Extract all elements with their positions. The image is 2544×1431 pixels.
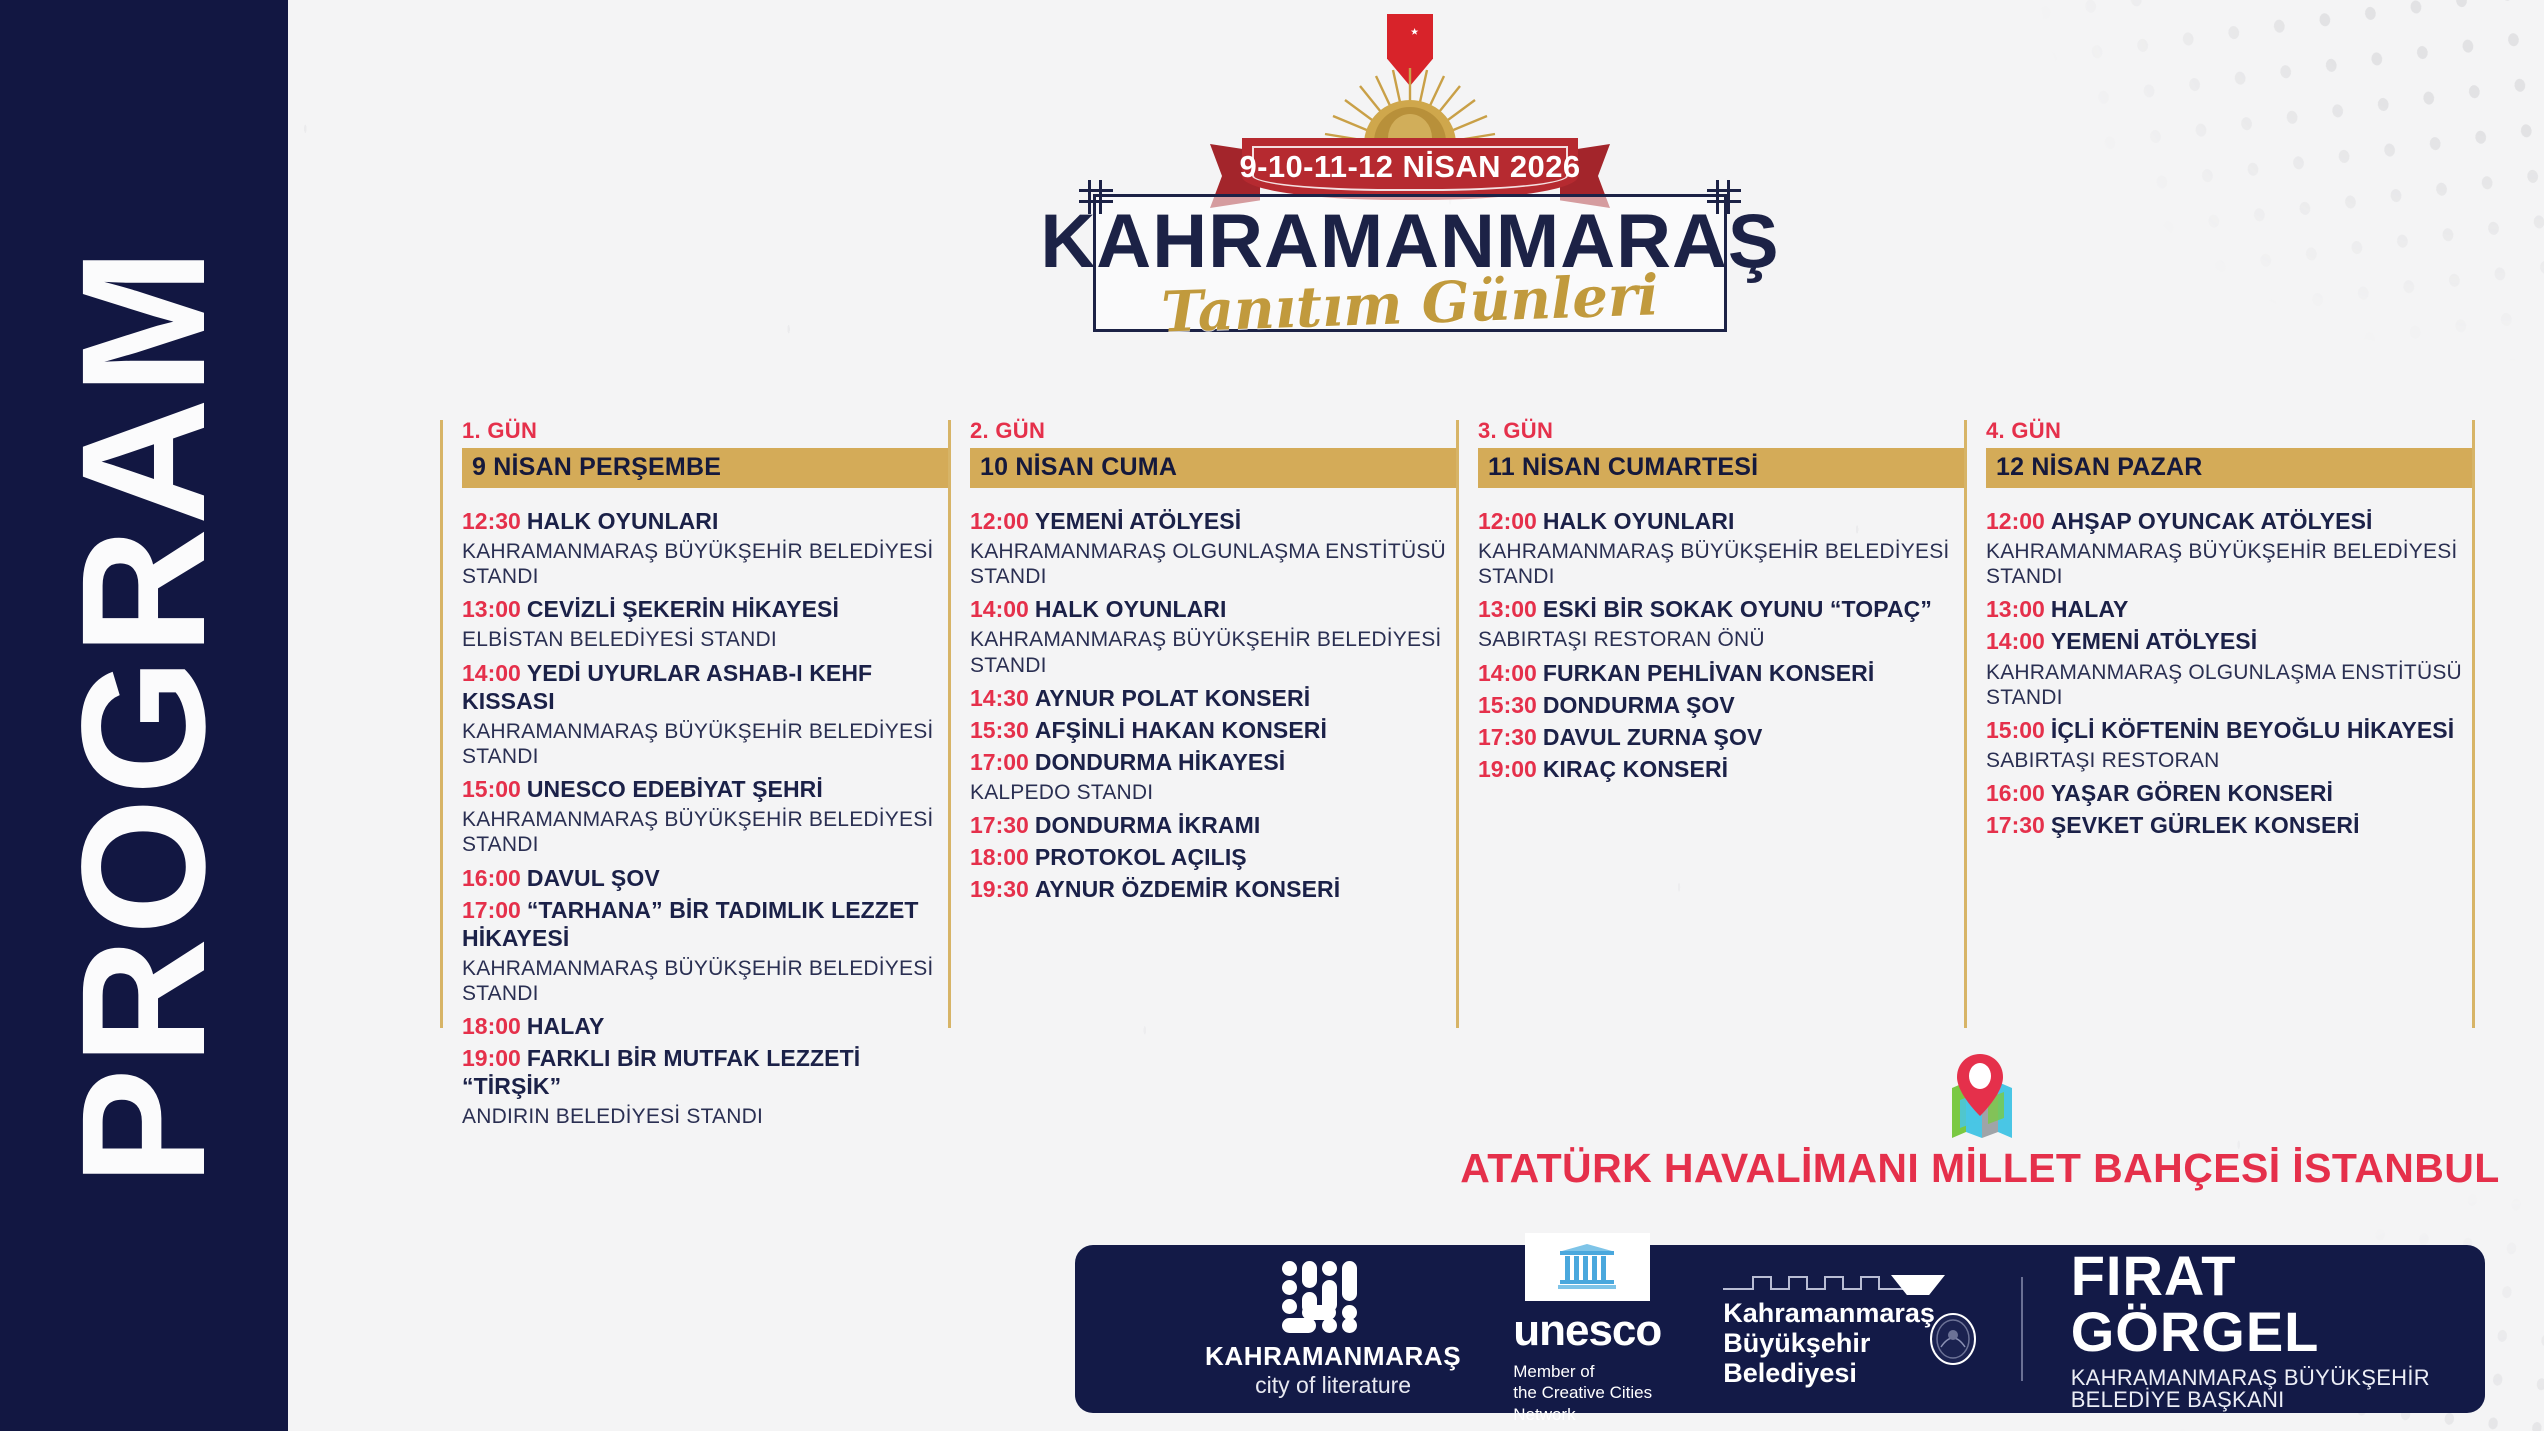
program-day-column: 2. GÜN10 NİSAN CUMA12:00YEMENİ ATÖLYESİK…	[970, 420, 1456, 907]
footer-sponsor-bar: KAHRAMANMARAŞ city of literature	[1075, 1245, 2485, 1413]
poster-root: PROGRAM	[0, 0, 2544, 1431]
event-row: 13:00HALAY	[1986, 595, 2472, 623]
day-date-banner: 11 NİSAN CUMARTESİ	[1478, 448, 1964, 488]
event-row: 14:30AYNUR POLAT KONSERİ	[970, 684, 1456, 712]
event-row: 15:00UNESCO EDEBİYAT ŞEHRİ	[462, 775, 948, 803]
day-number-label: 4. GÜN	[1986, 420, 2472, 442]
municipality-line1: Kahramanmaraş	[1723, 1299, 1935, 1329]
unesco-temple-icon	[1525, 1233, 1650, 1301]
event-time: 15:30	[970, 717, 1029, 743]
day-number-label: 2. GÜN	[970, 420, 1456, 442]
event-name: YAŞAR GÖREN KONSERİ	[2051, 780, 2333, 806]
event-name: DONDURMA HİKAYESİ	[1035, 749, 1285, 775]
event-time: 19:00	[1478, 756, 1537, 782]
event-row: 14:00YEDİ UYURLAR ASHAB-I KEHF KISSASI	[462, 659, 948, 715]
event-row: 15:00İÇLİ KÖFTENİN BEYOĞLU HİKAYESİ	[1986, 716, 2472, 744]
event-time: 18:00	[462, 1013, 521, 1039]
event-name: ŞEVKET GÜRLEK KONSERİ	[2051, 812, 2360, 838]
event-name: HALK OYUNLARI	[527, 508, 719, 534]
event-name: YEMENİ ATÖLYESİ	[2051, 628, 2257, 654]
event-venue: KAHRAMANMARAŞ BÜYÜKŞEHİR BELEDİYESİ STAN…	[1986, 539, 2472, 589]
event-name: DONDURMA İKRAMI	[1035, 812, 1261, 838]
event-time: 14:00	[970, 596, 1029, 622]
mayor-role: KAHRAMANMARAŞ BÜYÜKŞEHİR BELEDİYE BAŞKAN…	[2071, 1367, 2485, 1411]
event-venue: SABIRTAŞI RESTORAN ÖNÜ	[1478, 627, 1964, 652]
event-name: HALAY	[2051, 596, 2129, 622]
event-name: CEVİZLİ ŞEKERİN HİKAYESİ	[527, 596, 839, 622]
event-name: KIRAÇ KONSERİ	[1543, 756, 1728, 782]
event-time: 15:30	[1478, 692, 1537, 718]
day-number-label: 3. GÜN	[1478, 420, 1964, 442]
program-day-column: 4. GÜN12 NİSAN PAZAR12:00AHŞAP OYUNCAK A…	[1986, 420, 2472, 843]
event-row: 12:00YEMENİ ATÖLYESİ	[970, 507, 1456, 535]
mayor-name: FIRAT GÖRGEL	[2071, 1248, 2485, 1360]
event-name: DAVUL ŞOV	[527, 865, 660, 891]
event-row: 17:30DONDURMA İKRAMI	[970, 811, 1456, 839]
event-title: KAHRAMANMARAŞ	[1040, 204, 1779, 280]
event-row: 12:00AHŞAP OYUNCAK ATÖLYESİ	[1986, 507, 2472, 535]
event-name: YEMENİ ATÖLYESİ	[1035, 508, 1241, 534]
event-name: HALK OYUNLARI	[1035, 596, 1227, 622]
program-grid: 1. GÜN9 NİSAN PERŞEMBE12:30HALK OYUNLARI…	[440, 420, 2500, 1040]
event-name: YEDİ UYURLAR ASHAB-I KEHF KISSASI	[462, 660, 872, 714]
event-row: 13:00ESKİ BİR SOKAK OYUNU “TOPAÇ”	[1478, 595, 1964, 623]
event-name: HALK OYUNLARI	[1543, 508, 1735, 534]
mayor-block: FIRAT GÖRGEL KAHRAMANMARAŞ BÜYÜKŞEHİR BE…	[2071, 1248, 2485, 1411]
event-name: İÇLİ KÖFTENİN BEYOĞLU HİKAYESİ	[2051, 717, 2454, 743]
day-event-list: 12:00HALK OYUNLARIKAHRAMANMARAŞ BÜYÜKŞEH…	[1478, 507, 1964, 783]
event-venue: KAHRAMANMARAŞ OLGUNLAŞMA ENSTİTÜSÜ STAND…	[970, 539, 1456, 589]
unesco-member-line2: the Creative Cities Network	[1513, 1382, 1661, 1425]
event-row: 12:00HALK OYUNLARI	[1478, 507, 1964, 535]
day-date-banner: 10 NİSAN CUMA	[970, 448, 1456, 488]
event-time: 17:00	[462, 897, 521, 923]
event-time: 16:00	[462, 865, 521, 891]
event-time: 12:30	[462, 508, 521, 534]
event-time: 17:30	[1478, 724, 1537, 750]
event-time: 14:00	[462, 660, 521, 686]
event-name: FARKLI BİR MUTFAK LEZZETİ “TİRŞİK”	[462, 1045, 860, 1099]
event-time: 17:30	[970, 812, 1029, 838]
event-row: 17:00DONDURMA HİKAYESİ	[970, 748, 1456, 776]
event-time: 14:00	[1478, 660, 1537, 686]
event-subtitle: Tanıtım Günleri	[1160, 267, 1659, 340]
event-venue: KAHRAMANMARAŞ BÜYÜKŞEHİR BELEDİYESİ STAN…	[1478, 539, 1964, 589]
municipality-wall-icon	[1723, 1269, 1973, 1295]
event-time: 19:00	[462, 1045, 521, 1071]
city-of-literature-sub: city of literature	[1255, 1374, 1411, 1397]
event-logo-lockup: 9-10-11-12 NİSAN 2026 KAHRAMANMARAŞ Tanı…	[940, 8, 1880, 378]
program-sidebar: PROGRAM	[0, 0, 288, 1431]
venue-block: ATATÜRK HAVALİMANI MİLLET BAHÇESİ İSTANB…	[1450, 1052, 2510, 1189]
event-name: AYNUR ÖZDEMİR KONSERİ	[1035, 876, 1340, 902]
event-venue: KAHRAMANMARAŞ BÜYÜKŞEHİR BELEDİYESİ STAN…	[462, 807, 948, 857]
event-venue: ANDIRIN BELEDİYESİ STANDI	[462, 1104, 948, 1129]
event-time: 14:30	[970, 685, 1029, 711]
event-row: 12:30HALK OYUNLARI	[462, 507, 948, 535]
event-time: 18:00	[970, 844, 1029, 870]
event-row: 18:00HALAY	[462, 1012, 948, 1040]
event-venue: SABIRTAŞI RESTORAN	[1986, 748, 2472, 773]
event-row: 16:00DAVUL ŞOV	[462, 864, 948, 892]
event-time: 12:00	[970, 508, 1029, 534]
kahramanmaras-dots-logo-icon	[1278, 1261, 1388, 1335]
event-name: FURKAN PEHLİVAN KONSERİ	[1543, 660, 1875, 686]
event-venue: ELBİSTAN BELEDİYESİ STANDI	[462, 627, 948, 652]
column-divider	[440, 420, 443, 1028]
map-pin-location-icon	[1932, 1052, 2028, 1140]
event-time: 19:30	[970, 876, 1029, 902]
event-name: AHŞAP OYUNCAK ATÖLYESİ	[2051, 508, 2373, 534]
event-venue: KAHRAMANMARAŞ BÜYÜKŞEHİR BELEDİYESİ STAN…	[462, 539, 948, 589]
column-divider	[948, 420, 951, 1028]
event-venue: KALPEDO STANDI	[970, 780, 1456, 805]
day-event-list: 12:30HALK OYUNLARIKAHRAMANMARAŞ BÜYÜKŞEH…	[462, 507, 948, 1129]
event-row: 17:30DAVUL ZURNA ŞOV	[1478, 723, 1964, 751]
event-time: 17:30	[1986, 812, 2045, 838]
day-event-list: 12:00YEMENİ ATÖLYESİKAHRAMANMARAŞ OLGUNL…	[970, 507, 1456, 903]
event-row: 17:00“TARHANA” BİR TADIMLIK LEZZET HİKAY…	[462, 896, 948, 952]
municipality-logo: Kahramanmaraş Büyükşehir Belediyesi	[1723, 1269, 1973, 1388]
event-dates: 9-10-11-12 NİSAN 2026	[1210, 149, 1610, 185]
event-venue: KAHRAMANMARAŞ OLGUNLAŞMA ENSTİTÜSÜ STAND…	[1986, 660, 2472, 710]
event-time: 13:00	[462, 596, 521, 622]
city-of-literature-name: KAHRAMANMARAŞ	[1205, 1343, 1461, 1369]
event-time: 12:00	[1478, 508, 1537, 534]
event-venue: KAHRAMANMARAŞ BÜYÜKŞEHİR BELEDİYESİ STAN…	[970, 627, 1456, 677]
column-divider	[2472, 420, 2475, 1028]
column-divider	[1964, 420, 1967, 1028]
event-row: 16:00YAŞAR GÖREN KONSERİ	[1986, 779, 2472, 807]
sidebar-program-label: PROGRAM	[0, 0, 288, 1431]
event-venue: KAHRAMANMARAŞ BÜYÜKŞEHİR BELEDİYESİ STAN…	[462, 719, 948, 769]
event-time: 15:00	[1986, 717, 2045, 743]
event-row: 19:30AYNUR ÖZDEMİR KONSERİ	[970, 875, 1456, 903]
event-time: 16:00	[1986, 780, 2045, 806]
day-date-banner: 12 NİSAN PAZAR	[1986, 448, 2472, 488]
event-row: 17:30ŞEVKET GÜRLEK KONSERİ	[1986, 811, 2472, 839]
event-name: DAVUL ZURNA ŞOV	[1543, 724, 1763, 750]
event-time: 15:00	[462, 776, 521, 802]
event-name: ESKİ BİR SOKAK OYUNU “TOPAÇ”	[1543, 596, 1932, 622]
event-row: 14:00FURKAN PEHLİVAN KONSERİ	[1478, 659, 1964, 687]
event-name: PROTOKOL AÇILIŞ	[1035, 844, 1247, 870]
program-day-column: 1. GÜN9 NİSAN PERŞEMBE12:30HALK OYUNLARI…	[462, 420, 948, 1135]
day-date-banner: 9 NİSAN PERŞEMBE	[462, 448, 948, 488]
event-time: 13:00	[1986, 596, 2045, 622]
event-name: AYNUR POLAT KONSERİ	[1035, 685, 1310, 711]
event-name: AFŞİNLİ HAKAN KONSERİ	[1035, 717, 1327, 743]
event-row: 13:00CEVİZLİ ŞEKERİN HİKAYESİ	[462, 595, 948, 623]
event-time: 14:00	[1986, 628, 2045, 654]
unesco-logo: unesco Member of the Creative Cities Net…	[1513, 1233, 1661, 1425]
event-row: 18:00PROTOKOL AÇILIŞ	[970, 843, 1456, 871]
event-name: HALAY	[527, 1013, 605, 1039]
program-day-column: 3. GÜN11 NİSAN CUMARTESİ12:00HALK OYUNLA…	[1478, 420, 1964, 787]
footer-divider	[2021, 1277, 2022, 1381]
event-row: 15:30DONDURMA ŞOV	[1478, 691, 1964, 719]
day-number-label: 1. GÜN	[462, 420, 948, 442]
event-name: DONDURMA ŞOV	[1543, 692, 1735, 718]
event-time: 17:00	[970, 749, 1029, 775]
event-row: 19:00KIRAÇ KONSERİ	[1478, 755, 1964, 783]
event-row: 14:00YEMENİ ATÖLYESİ	[1986, 627, 2472, 655]
event-row: 19:00FARKLI BİR MUTFAK LEZZETİ “TİRŞİK”	[462, 1044, 948, 1100]
venue-name: ATATÜRK HAVALİMANI MİLLET BAHÇESİ İSTANB…	[1450, 1148, 2510, 1189]
event-row: 15:30AFŞİNLİ HAKAN KONSERİ	[970, 716, 1456, 744]
unesco-wordmark: unesco	[1513, 1309, 1661, 1353]
column-divider	[1456, 420, 1459, 1028]
event-row: 14:00HALK OYUNLARI	[970, 595, 1456, 623]
event-time: 13:00	[1478, 596, 1537, 622]
event-venue: KAHRAMANMARAŞ BÜYÜKŞEHİR BELEDİYESİ STAN…	[462, 956, 948, 1006]
municipality-crest-icon	[1927, 1299, 1979, 1365]
city-of-literature-logo: KAHRAMANMARAŞ city of literature	[1205, 1261, 1461, 1397]
day-event-list: 12:00AHŞAP OYUNCAK ATÖLYESİKAHRAMANMARAŞ…	[1986, 507, 2472, 839]
event-name: “TARHANA” BİR TADIMLIK LEZZET HİKAYESİ	[462, 897, 919, 951]
event-name: UNESCO EDEBİYAT ŞEHRİ	[527, 776, 823, 802]
event-time: 12:00	[1986, 508, 2045, 534]
unesco-member-line1: Member of	[1513, 1361, 1594, 1382]
